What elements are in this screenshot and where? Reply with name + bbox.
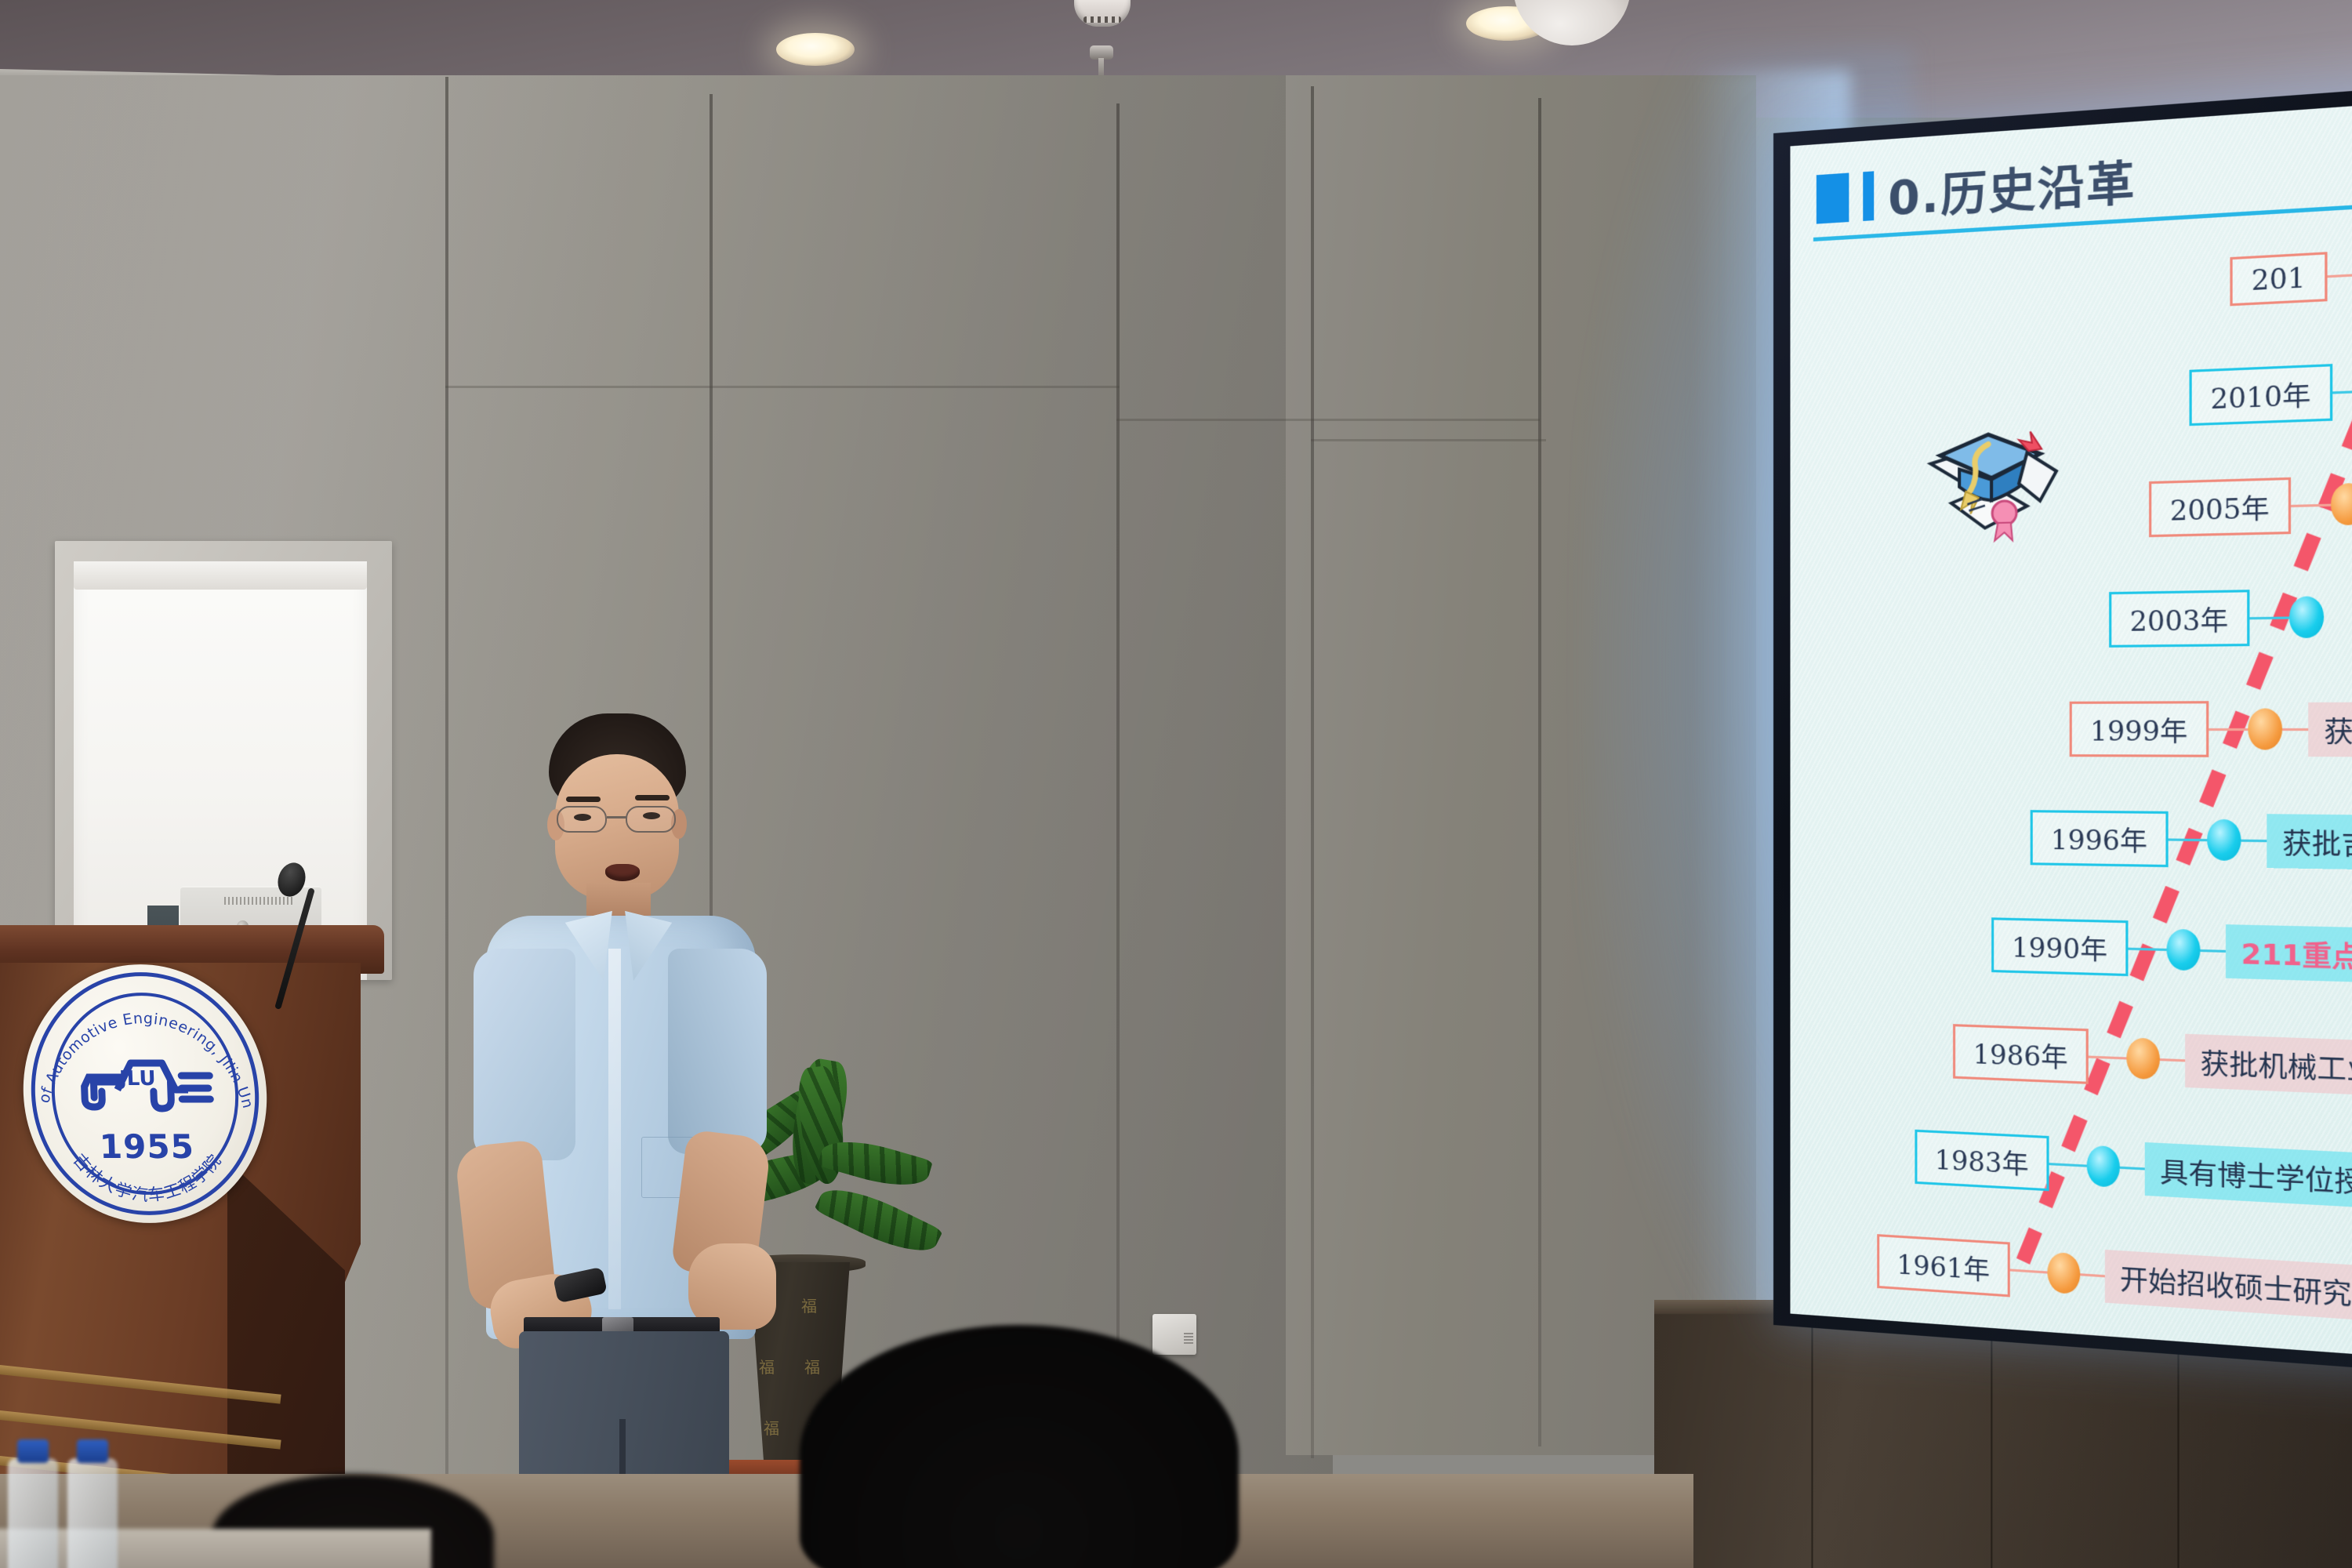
timeline-node-icon [2126, 1037, 2160, 1080]
logo-founding-year: 1955 [24, 1127, 269, 1166]
presentation-slide: 0.历史沿革 [1790, 103, 2352, 1356]
svg-text:JLU: JLU [118, 1067, 156, 1091]
timeline-node-icon [2047, 1252, 2080, 1294]
timeline-description: 获批 [2308, 702, 2352, 757]
roller-blind [74, 561, 367, 590]
timeline-node-icon [2087, 1145, 2120, 1188]
presenter-eyebrow [566, 797, 601, 802]
wall-panel-seam [1116, 103, 1120, 1460]
wall-panel-seam [1116, 419, 1540, 421]
timeline-year-box: 2005年 [2149, 477, 2291, 537]
presenter-eyebrow [635, 795, 670, 800]
timeline-year-box: 1996年 [2031, 810, 2169, 867]
wall-panel-seam [1311, 439, 1546, 441]
timeline-connector [2160, 1058, 2185, 1061]
timeline-year-box: 1999年 [2070, 701, 2209, 757]
timeline-connector [2282, 728, 2308, 730]
timeline-node-icon [2248, 708, 2282, 750]
timeline-connector [2209, 728, 2248, 730]
timeline-item: 1986年获批机械工业部 [1953, 1024, 2352, 1098]
timeline-description: 获批吉林 [2267, 814, 2352, 870]
timeline-connector [2128, 947, 2166, 950]
shirt-placket [608, 949, 621, 1309]
audience-head-silhouette [800, 1325, 1239, 1568]
college-logo: College of Automotive Engineering, Jilin… [19, 964, 271, 1223]
shirt-sleeve [474, 949, 575, 1160]
projection-display-bezel: 0.历史沿革 [1773, 88, 2352, 1371]
timeline-connector [2010, 1269, 2048, 1273]
timeline-connector [2332, 390, 2352, 394]
timeline-connector [2200, 949, 2225, 952]
wall-control-panel-icon[interactable] [1152, 1314, 1196, 1355]
timeline-description: 获批机械工业部 [2185, 1033, 2352, 1097]
timeline-item: 201 [2230, 248, 2352, 306]
timeline-connector [2249, 616, 2288, 619]
presenter [455, 713, 784, 1568]
wall-panel-seam [1311, 86, 1314, 1458]
timeline-node-icon [2207, 819, 2241, 861]
wall-panel-seam [445, 386, 1120, 388]
pot-motif-character: 福 [804, 1355, 820, 1377]
timeline-connector [2049, 1163, 2087, 1167]
timeline: 2012010年2005年2003年1999年获批1996年获批吉林1990年2… [1790, 103, 2352, 1356]
shirt-sleeve [668, 949, 767, 1154]
pot-motif-character: 福 [801, 1294, 817, 1316]
timeline-connector [2120, 1166, 2145, 1170]
timeline-item: 2003年 [2109, 589, 2324, 648]
timeline-year-box: 1961年 [1877, 1234, 2010, 1297]
timeline-connector [2291, 503, 2331, 507]
timeline-year-box: 2003年 [2109, 590, 2249, 648]
downlight-icon [776, 33, 855, 66]
timeline-connector [2169, 838, 2207, 841]
doorway-frame [55, 541, 392, 980]
timeline-year-box: 1986年 [1953, 1024, 2089, 1084]
timeline-description: 开始招收硕士研究生 [2105, 1249, 2352, 1322]
timeline-item: 1983年具有博士学位授予权 [1915, 1130, 2352, 1213]
timeline-connector [2328, 273, 2352, 278]
timeline-item: 1996年获批吉林 [2031, 810, 2352, 871]
water-bottles [0, 1443, 180, 1568]
presenter-mouth [605, 864, 640, 881]
timeline-node-icon [2166, 929, 2200, 971]
timeline-description: 211重点建设 [2226, 924, 2352, 984]
timeline-connector [2089, 1055, 2127, 1059]
room-photo-scene: 福 福 福 福 福 福 [0, 0, 2352, 1568]
timeline-item: 1990年211重点建设 [1991, 917, 2352, 985]
timeline-node-icon [2289, 596, 2324, 638]
timeline-item: 2010年 [2189, 361, 2352, 426]
timeline-item: 1999年获批 [2070, 700, 2352, 757]
timeline-year-box: 201 [2230, 252, 2327, 306]
timeline-item: 1961年开始招收硕士研究生 [1877, 1234, 2352, 1323]
timeline-item: 2005年 [2149, 475, 2352, 537]
sprinkler-head-icon [1090, 45, 1113, 60]
timeline-year-box: 1983年 [1915, 1130, 2049, 1192]
timeline-connector [2241, 839, 2267, 842]
glasses-icon [554, 806, 684, 836]
timeline-connector [2080, 1273, 2105, 1277]
timeline-node-icon [2331, 483, 2352, 526]
timeline-description: 具有博士学位授予权 [2145, 1142, 2352, 1211]
logo-car-monogram-icon: JLU [69, 1051, 220, 1121]
timeline-year-box: 1990年 [1991, 917, 2128, 976]
wall-panel-seam [445, 77, 448, 1496]
timeline-year-box: 2010年 [2189, 364, 2332, 426]
wall-panel-seam [1538, 98, 1541, 1446]
